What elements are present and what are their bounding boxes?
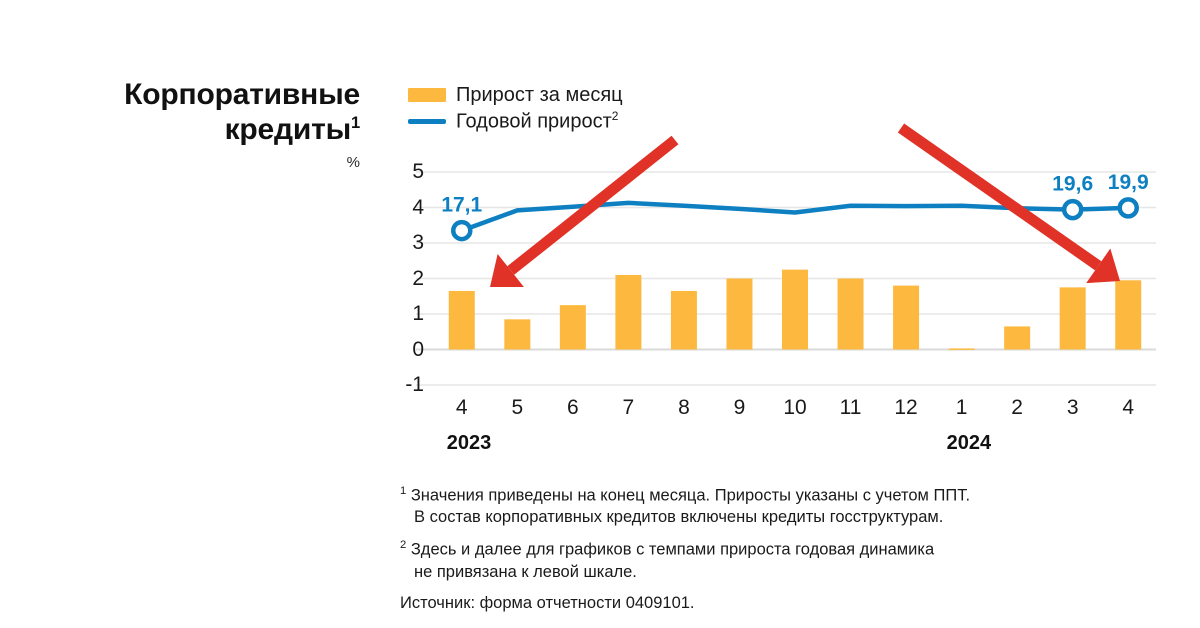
bar-9: [726, 279, 752, 350]
value-label-17,1: 17,1: [441, 194, 482, 217]
chart-page: Корпоративные кредиты1 % Прирост за меся…: [0, 0, 1200, 628]
bar-2: [1004, 326, 1030, 349]
x-tick-1: 5: [511, 396, 523, 420]
year-label-2024: 2024: [947, 432, 992, 455]
x-tick-11: 3: [1067, 396, 1079, 420]
bar-10: [782, 270, 808, 350]
chart-bars-group: [449, 270, 1141, 350]
bar-7: [615, 275, 641, 350]
x-tick-7: 11: [840, 396, 862, 420]
bar-3: [1060, 287, 1086, 349]
y-tick--1: -1: [405, 373, 424, 397]
bar-11: [838, 279, 864, 350]
bar-12: [893, 286, 919, 350]
year-label-2023: 2023: [447, 432, 492, 455]
value-label-19,6: 19,6: [1052, 173, 1093, 196]
footnote-1-marker: 1: [400, 485, 406, 497]
y-tick-1: 1: [412, 302, 424, 326]
chart-x-axis-labels: 4567891011121234: [434, 396, 1156, 426]
x-tick-12: 4: [1122, 396, 1134, 420]
bar-6: [560, 305, 586, 349]
line-marker-19,9: [1120, 199, 1137, 216]
x-tick-8: 12: [894, 396, 917, 420]
footnote-1: 1 Значения приведены на конец месяца. Пр…: [400, 484, 1100, 529]
y-tick-0: 0: [412, 338, 424, 362]
bar-5: [504, 319, 530, 349]
bar-4: [1115, 280, 1141, 349]
line-marker-19,6: [1064, 201, 1081, 218]
footnote-1-line-1: Значения приведены на конец месяца. Прир…: [411, 487, 970, 505]
x-tick-0: 4: [456, 396, 468, 420]
y-tick-3: 3: [412, 231, 424, 255]
chart-footnotes: 1 Значения приведены на конец месяца. Пр…: [400, 484, 1100, 615]
value-label-19,9: 19,9: [1108, 171, 1149, 194]
x-tick-5: 9: [734, 396, 746, 420]
footnote-2-line-1: Здесь и далее для графиков с темпами при…: [411, 541, 934, 559]
x-tick-9: 1: [956, 396, 968, 420]
x-tick-4: 8: [678, 396, 690, 420]
x-tick-3: 7: [623, 396, 635, 420]
footnote-1-line-2: В состав корпоративных кредитов включены…: [414, 507, 1100, 529]
bar-8: [671, 291, 697, 350]
chart-y-axis-labels: 543210-1: [398, 160, 424, 400]
footnote-2: 2 Здесь и далее для графиков с темпами п…: [400, 538, 1100, 583]
y-tick-4: 4: [412, 196, 424, 220]
x-tick-10: 2: [1011, 396, 1023, 420]
bar-4: [449, 291, 475, 350]
bar-1: [949, 348, 975, 350]
line-marker-17,1: [453, 222, 470, 239]
y-tick-2: 2: [412, 267, 424, 291]
x-tick-2: 6: [567, 396, 579, 420]
y-tick-5: 5: [412, 160, 424, 184]
x-tick-6: 10: [783, 396, 806, 420]
chart-plot-area: 17,119,619,9 543210-1 4567891011121234 2…: [0, 0, 1200, 470]
source-line: Источник: форма отчетности 0409101.: [400, 593, 1100, 615]
chart-x-axis-year-labels: 20232024: [434, 432, 1156, 460]
footnote-2-marker: 2: [400, 539, 406, 551]
footnote-2-line-2: не привязана к левой шкале.: [414, 562, 1100, 584]
downward-arrow-left: [490, 140, 675, 287]
